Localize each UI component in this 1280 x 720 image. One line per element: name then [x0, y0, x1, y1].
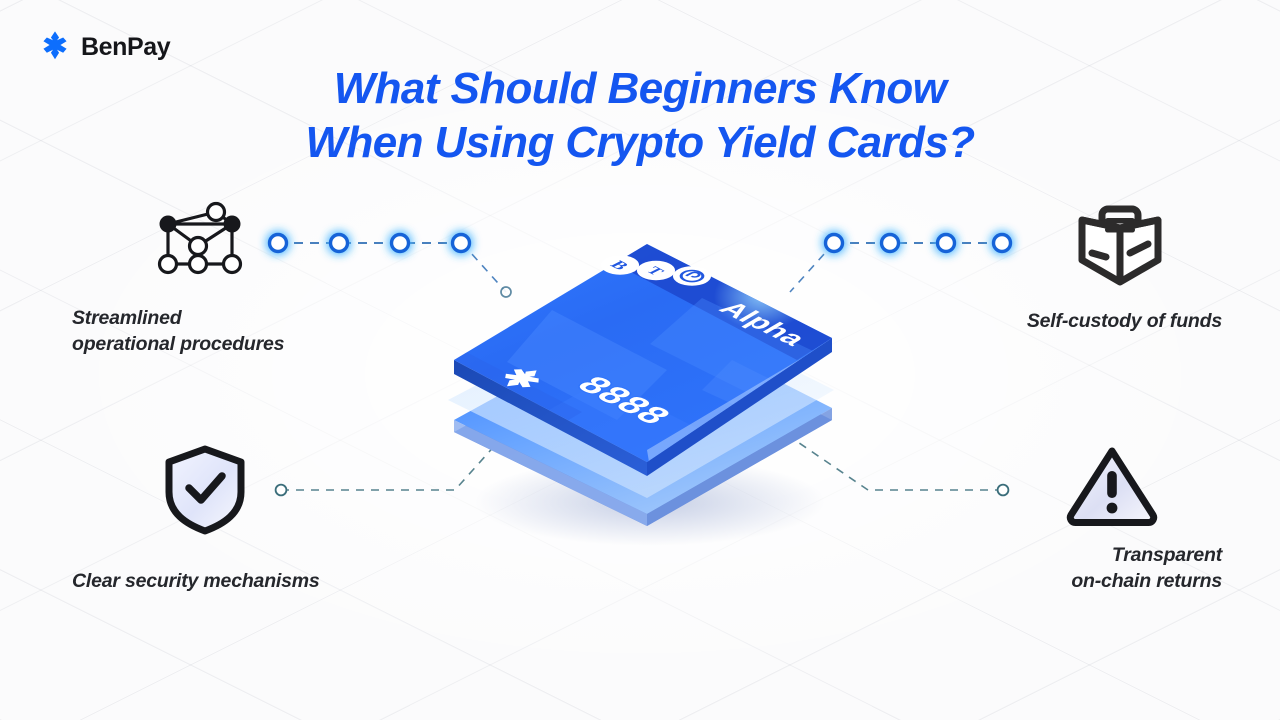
crypto-card-illustration: B T Alpha 8888 — [402, 210, 892, 550]
brand-wordmark: BenPay — [81, 33, 170, 62]
shield-check-icon — [162, 443, 320, 540]
feature-returns-label: Transparent on-chain returns — [1064, 542, 1222, 594]
feature-streamlined[interactable]: Streamlined operational procedures — [72, 198, 284, 357]
vault-box-icon — [1027, 198, 1168, 290]
page-title-line-1: What Should Beginners Know — [0, 62, 1280, 116]
feature-self-custody[interactable]: Self-custody of funds — [1027, 198, 1222, 334]
warning-triangle-icon — [1064, 443, 1160, 527]
infographic-canvas: BenPay What Should Beginners Know When U… — [0, 0, 1280, 720]
page-title-line-2: When Using Crypto Yield Cards? — [0, 116, 1280, 170]
feature-self-custody-label: Self-custody of funds — [1027, 308, 1222, 334]
feature-security-label: Clear security mechanisms — [72, 568, 320, 594]
benpay-star-icon — [38, 30, 72, 64]
brand-logo[interactable]: BenPay — [38, 30, 170, 64]
page-title: What Should Beginners Know When Using Cr… — [0, 62, 1280, 169]
feature-returns[interactable]: Transparent on-chain returns — [1064, 443, 1222, 594]
feature-security[interactable]: Clear security mechanisms — [72, 443, 320, 594]
network-nodes-icon — [152, 198, 284, 291]
feature-streamlined-label: Streamlined operational procedures — [72, 305, 284, 357]
